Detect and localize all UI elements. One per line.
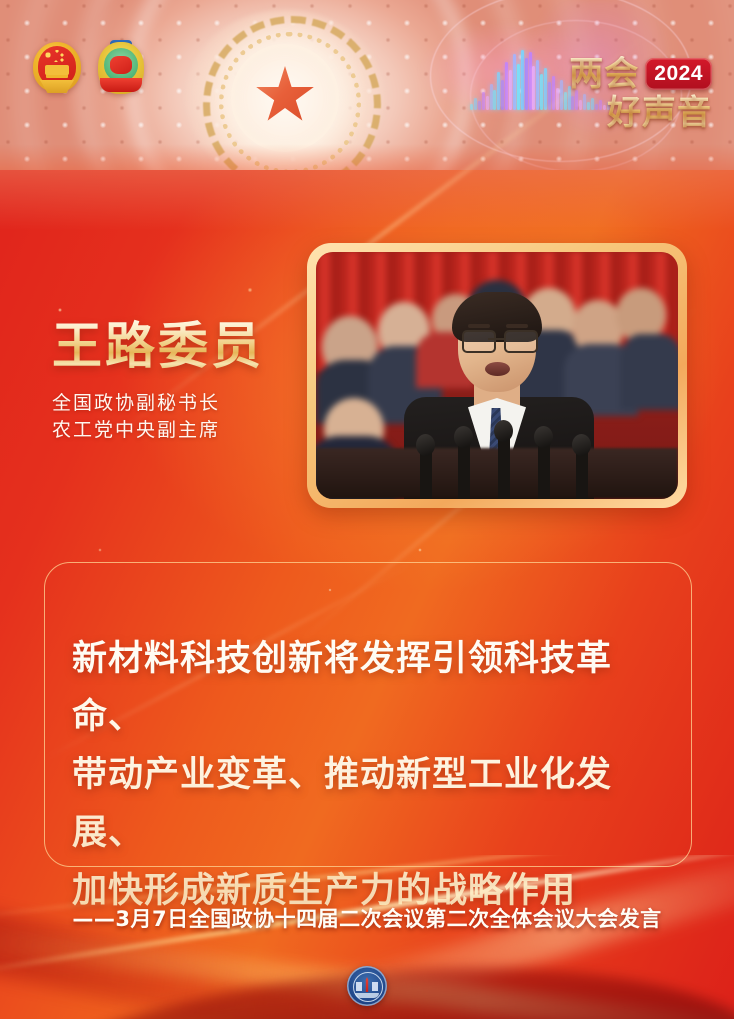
microphone-head-2 [454, 426, 473, 448]
brand-line1: 两会 [569, 56, 639, 92]
cppcc-news-logo-icon [347, 966, 387, 1006]
photo-image [316, 252, 678, 499]
brand-lockup: 两会 2024 好声音 [542, 56, 712, 132]
poster-root: 两会 2024 好声音 王路委员 全国政协副秘书长 农工党中央副主席 [0, 0, 734, 1019]
speaker-brow-left [468, 324, 490, 328]
microphone-head-5 [572, 434, 591, 456]
quote-line-1: 新材料科技创新将发挥引领科技革命、 [72, 630, 672, 746]
year-badge: 2024 [645, 58, 712, 90]
event-caption: ——3月7日全国政协十四届二次会议第二次全体会议大会发言 [0, 903, 734, 933]
cppcc-emblem-icon [94, 38, 148, 100]
speaker-titles: 全国政协副秘书长 农工党中央副主席 [52, 390, 302, 444]
microphone-head-1 [416, 434, 435, 456]
speaker-title-2: 农工党中央副主席 [52, 417, 302, 444]
emblem-group [30, 38, 148, 100]
eyeglass-right-icon [504, 330, 538, 353]
brand-line2: 好声音 [542, 94, 712, 132]
speaker-brow-right [506, 324, 528, 328]
microphone-head-4 [534, 426, 553, 448]
microphone-head-3 [494, 420, 513, 442]
podium [316, 448, 678, 499]
header-body-fade [0, 170, 734, 230]
national-emblem-of-china-icon [30, 38, 84, 100]
speaker-mouth [485, 362, 510, 376]
speaker-photo [307, 243, 687, 508]
speaker-title-1: 全国政协副秘书长 [52, 390, 302, 417]
speaker-info: 王路委员 全国政协副秘书长 农工党中央副主席 [52, 318, 302, 444]
speaker-name: 王路委员 [52, 318, 302, 374]
great-hall-ceiling-star-icon [185, 10, 385, 185]
eyeglass-left-icon [462, 330, 496, 353]
eyeglass-bridge [488, 338, 506, 340]
quote-line-2: 带动产业变革、推动新型工业化发展、 [72, 746, 672, 862]
